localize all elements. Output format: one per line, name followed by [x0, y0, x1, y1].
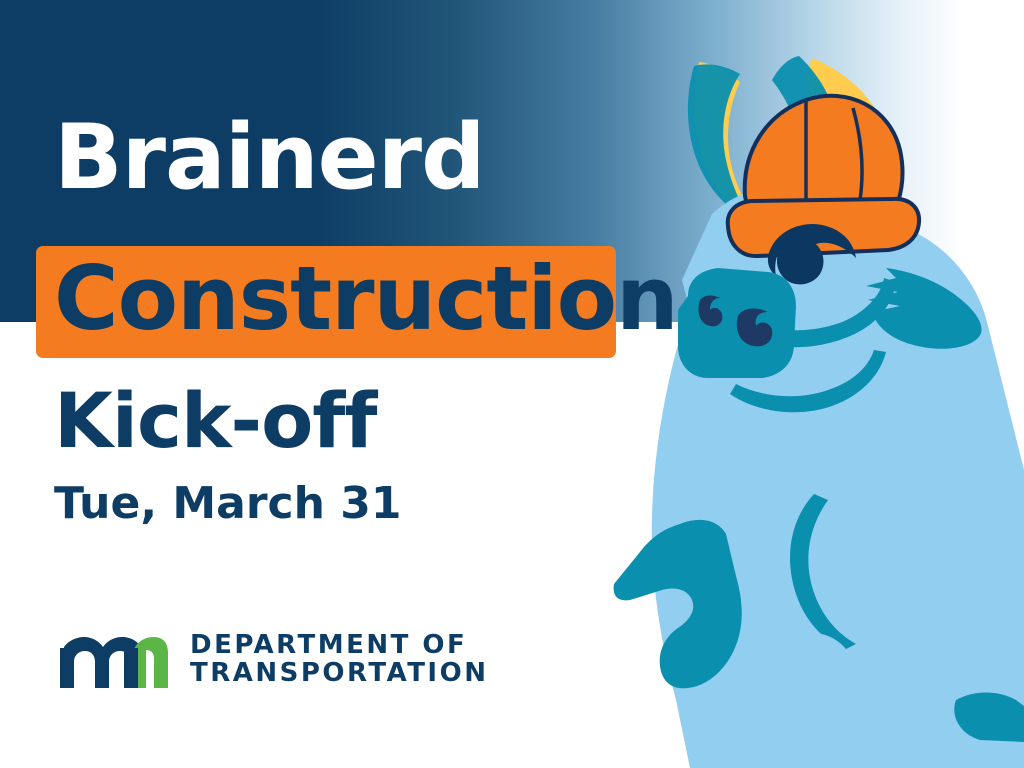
headline-brainerd: Brainerd — [54, 113, 485, 203]
mndot-logo: DEPARTMENT OF TRANSPORTATION — [58, 628, 488, 690]
poster-canvas: Brainerd Construction Kick-off Tue, Marc… — [0, 0, 1024, 768]
headline-kickoff: Kick-off — [54, 383, 376, 459]
event-date: Tue, March 31 — [54, 482, 402, 526]
mndot-logo-text: DEPARTMENT OF TRANSPORTATION — [190, 631, 488, 687]
logo-line-department: DEPARTMENT OF — [190, 631, 488, 659]
mn-wordmark-icon — [58, 628, 168, 690]
logo-line-transportation: TRANSPORTATION — [190, 659, 488, 687]
headline-construction: Construction — [54, 255, 678, 343]
